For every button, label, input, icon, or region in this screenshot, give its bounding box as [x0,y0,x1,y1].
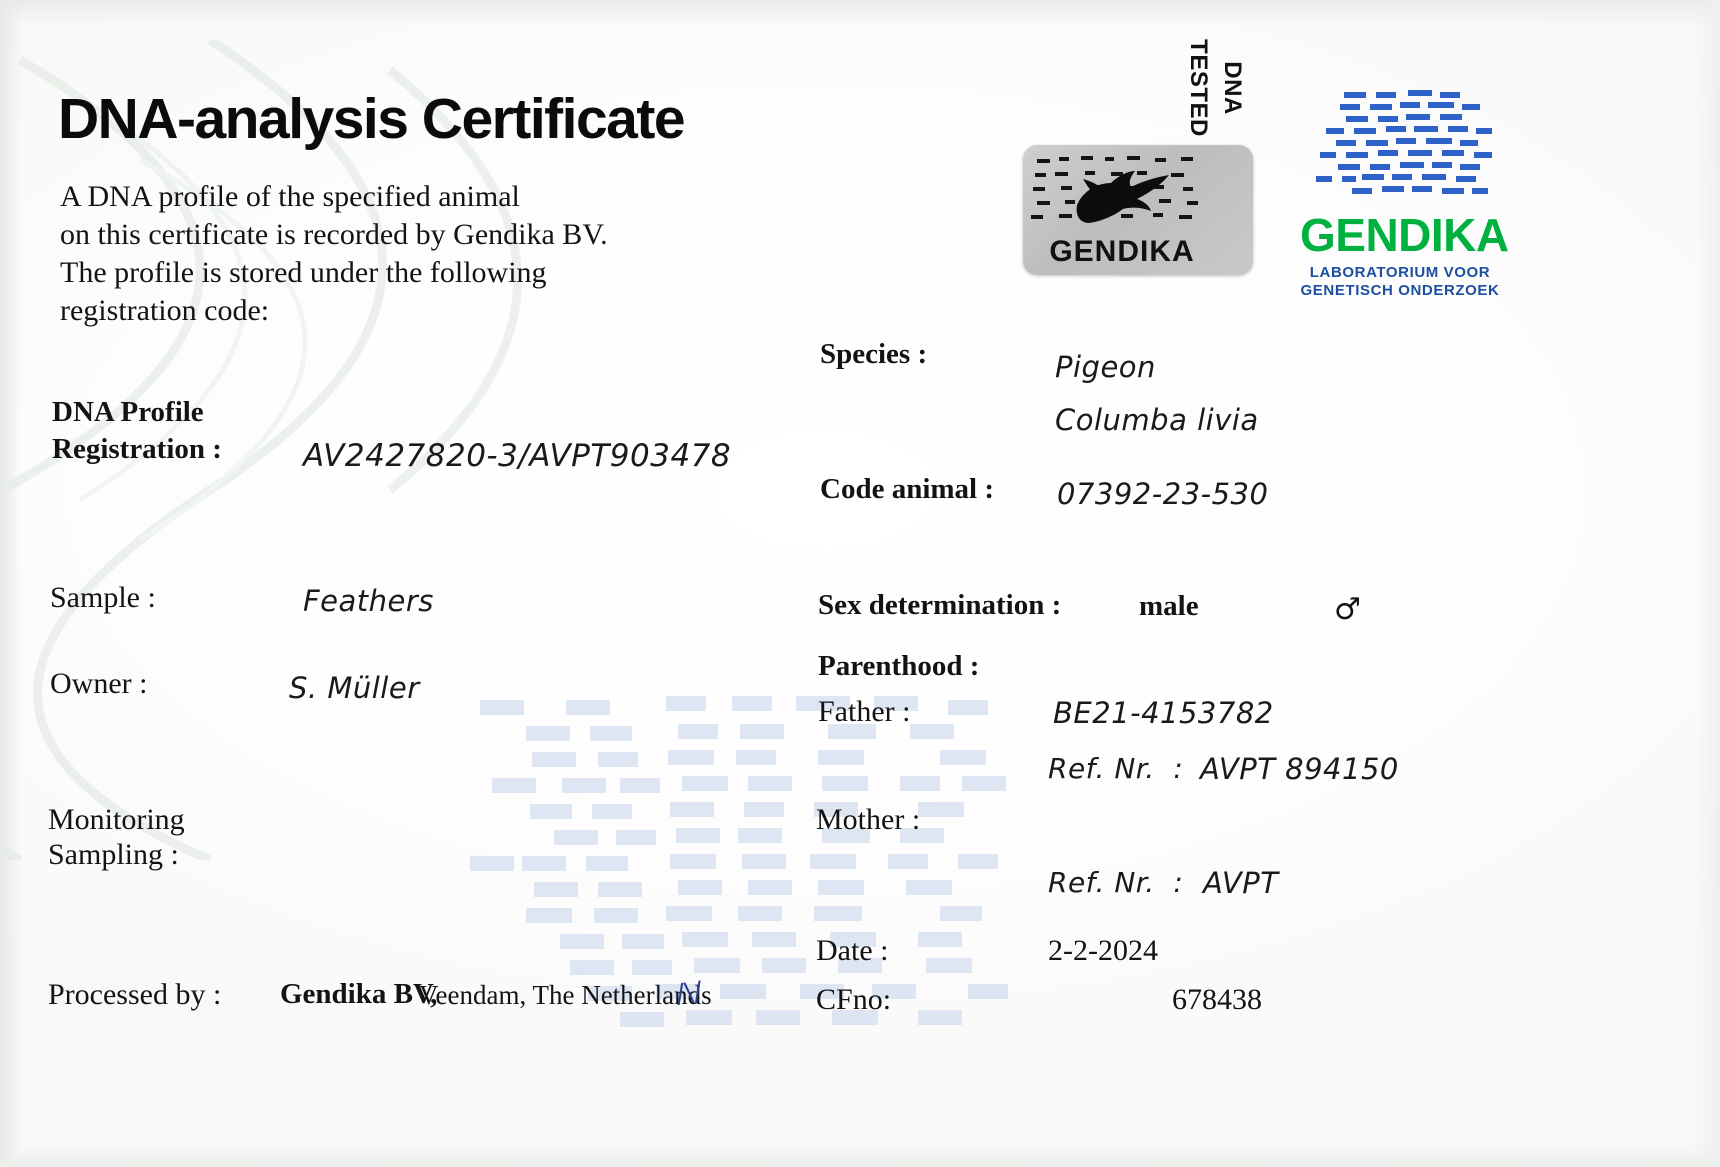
scan-edge-right [1694,0,1720,1167]
father-value: BE21-4153782 [1053,696,1274,730]
mother-ref-value: AVPT [1203,866,1278,900]
sticker-side-text: DNA TESTED [1215,27,1249,149]
cfno-label: CFno: [816,983,891,1017]
gendika-gel-mark-icon [1300,86,1500,216]
scan-edge-left [0,0,22,1167]
processed-by-address: Veendam, The Netherlands [419,980,712,1011]
monitoring-label-line1: Monitoring [48,803,185,837]
father-ref-value: AVPT 894150 [1200,752,1399,786]
sticker-brand: GENDIKA [1033,235,1211,269]
date-value: 2-2-2024 [1048,934,1158,968]
logo-tagline-line2: GENETISCH ONDERZOEK [1300,282,1500,300]
intro-line-2: on this certificate is recorded by Gendi… [60,216,608,254]
intro-line-1: A DNA profile of the specified animal [60,178,608,216]
cfno-value: 678438 [1172,983,1262,1017]
scan-edge-top [0,0,1720,26]
code-animal-label: Code animal : [820,473,994,506]
handwritten-signature: /\/ [674,976,704,1009]
father-ref-label: Ref. Nr. : [1048,752,1183,785]
page-title: DNA-analysis Certificate [58,86,684,152]
sex-determination-label: Sex determination : [818,589,1061,622]
species-label: Species : [820,338,927,371]
intro-line-4: registration code: [60,292,608,330]
owner-label: Owner : [50,667,147,701]
bird-dna-gel-icon [1031,151,1211,243]
species-common-value: Pigeon [1055,350,1156,384]
registration-label-line1: DNA Profile [52,396,204,429]
intro-paragraph: A DNA profile of the specified animal on… [60,178,608,330]
monitoring-label-line2: Sampling : [48,838,179,872]
intro-line-3: The profile is stored under the followin… [60,254,608,292]
species-latin-value: Columba livia [1055,403,1259,437]
parenthood-label: Parenthood : [818,650,979,683]
dna-tested-sticker: DNA TESTED GENDIKA [1023,145,1253,275]
processed-by-company: Gendika BV, [280,978,437,1011]
code-animal-value: 07392-23-530 [1057,477,1268,511]
registration-label-line2: Registration : [52,433,222,466]
owner-value: S. Müller [289,671,420,705]
sample-label: Sample : [50,581,156,615]
gendika-logo: GENDIKA LABORATORIUM VOOR GENETISCH ONDE… [1300,86,1500,300]
mother-label: Mother : [816,803,920,837]
registration-value: AV2427820-3/AVPT903478 [303,438,731,474]
certificate-page: DNA-analysis Certificate A DNA profile o… [0,0,1720,1167]
sex-determination-value: male [1139,590,1199,623]
logo-wordmark: GENDIKA [1300,212,1500,258]
sample-value: Feathers [303,584,434,618]
logo-tagline-line1: LABORATORIUM VOOR [1300,264,1500,282]
father-label: Father : [818,695,910,729]
date-label: Date : [816,934,888,968]
scan-edge-bottom [0,1147,1720,1167]
mother-ref-label: Ref. Nr. : [1048,866,1183,899]
male-symbol-icon: ♂ [1334,592,1361,627]
processed-by-label: Processed by : [48,978,221,1012]
